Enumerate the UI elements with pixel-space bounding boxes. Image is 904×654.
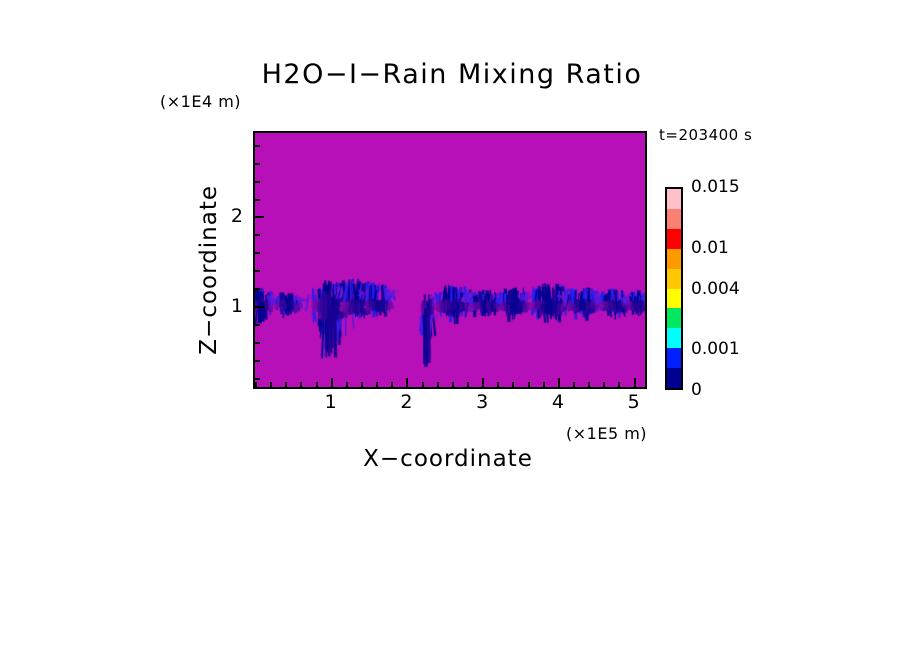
colorbar-band xyxy=(667,308,681,328)
y-axis-tick xyxy=(255,234,260,236)
x-axis-tick xyxy=(406,378,408,387)
y-axis-tick xyxy=(255,306,264,308)
x-axis-label: X−coordinate xyxy=(253,446,643,472)
x-axis-tick xyxy=(497,382,499,387)
x-axis-tick xyxy=(588,382,590,387)
x-axis-tick xyxy=(512,382,514,387)
colorbar-band xyxy=(667,328,681,348)
x-axis-tick xyxy=(422,382,424,387)
x-axis-tick xyxy=(331,378,333,387)
x-axis-tick xyxy=(270,382,272,387)
x-axis-tick xyxy=(316,382,318,387)
x-axis-tick xyxy=(634,378,636,387)
x-axis-tick xyxy=(361,382,363,387)
colorbar-label: 0 xyxy=(691,380,702,400)
colorbar-label: 0.004 xyxy=(691,279,740,299)
x-axis-tick-label: 5 xyxy=(614,391,654,413)
time-stamp-annotation: t=203400 s xyxy=(659,126,752,144)
x-axis-tick xyxy=(543,382,545,387)
colorbar xyxy=(665,187,683,390)
x-axis-tick xyxy=(300,382,302,387)
y-axis-tick xyxy=(255,270,260,272)
x-axis-tick-label: 3 xyxy=(462,391,502,413)
x-axis-tick xyxy=(452,382,454,387)
x-axis-units-label: (×1E5 m) xyxy=(566,424,647,443)
x-axis-tick xyxy=(482,378,484,387)
y-axis-tick xyxy=(255,288,260,290)
rain-mixing-ratio-figure: H2O−I−Rain Mixing Ratio (×1E4 m) t=20340… xyxy=(0,0,904,654)
y-axis-tick xyxy=(255,181,260,183)
x-axis-tick xyxy=(346,382,348,387)
x-axis-tick-label: 2 xyxy=(386,391,426,413)
colorbar-band xyxy=(667,368,681,388)
y-axis-tick xyxy=(255,145,260,147)
rain-field-canvas xyxy=(255,133,645,387)
chart-title: H2O−I−Rain Mixing Ratio xyxy=(0,59,904,90)
y-axis-tick xyxy=(255,199,260,201)
colorbar-band xyxy=(667,348,681,368)
x-axis-tick xyxy=(573,382,575,387)
x-axis-tick-label: 1 xyxy=(311,391,351,413)
y-axis-units-label: (×1E4 m) xyxy=(160,92,241,111)
x-axis-tick xyxy=(391,382,393,387)
colorbar-label: 0.01 xyxy=(691,238,729,258)
colorbar-label: 0.001 xyxy=(691,339,740,359)
colorbar-band xyxy=(667,229,681,249)
x-axis-tick-label: 4 xyxy=(538,391,578,413)
x-axis-tick xyxy=(437,382,439,387)
colorbar-label: 0.015 xyxy=(691,177,740,197)
colorbar-band xyxy=(667,249,681,269)
y-axis-tick xyxy=(255,252,260,254)
colorbar-band xyxy=(667,269,681,289)
x-axis-tick xyxy=(255,382,257,387)
y-axis-tick xyxy=(255,378,260,380)
x-axis-tick xyxy=(376,382,378,387)
colorbar-band xyxy=(667,189,681,209)
x-axis-tick xyxy=(558,378,560,387)
colorbar-band xyxy=(667,289,681,309)
x-axis-tick xyxy=(467,382,469,387)
x-axis-tick xyxy=(618,382,620,387)
x-axis-tick xyxy=(528,382,530,387)
colorbar-band xyxy=(667,209,681,229)
plot-area xyxy=(253,131,647,389)
y-axis-tick xyxy=(255,342,260,344)
y-axis-tick-label: 1 xyxy=(213,295,243,317)
y-axis-tick xyxy=(255,324,260,326)
y-axis-tick xyxy=(255,163,260,165)
y-axis-tick xyxy=(255,216,264,218)
x-axis-tick xyxy=(285,382,287,387)
y-axis-tick-label: 2 xyxy=(213,205,243,227)
y-axis-tick xyxy=(255,360,260,362)
x-axis-tick xyxy=(603,382,605,387)
